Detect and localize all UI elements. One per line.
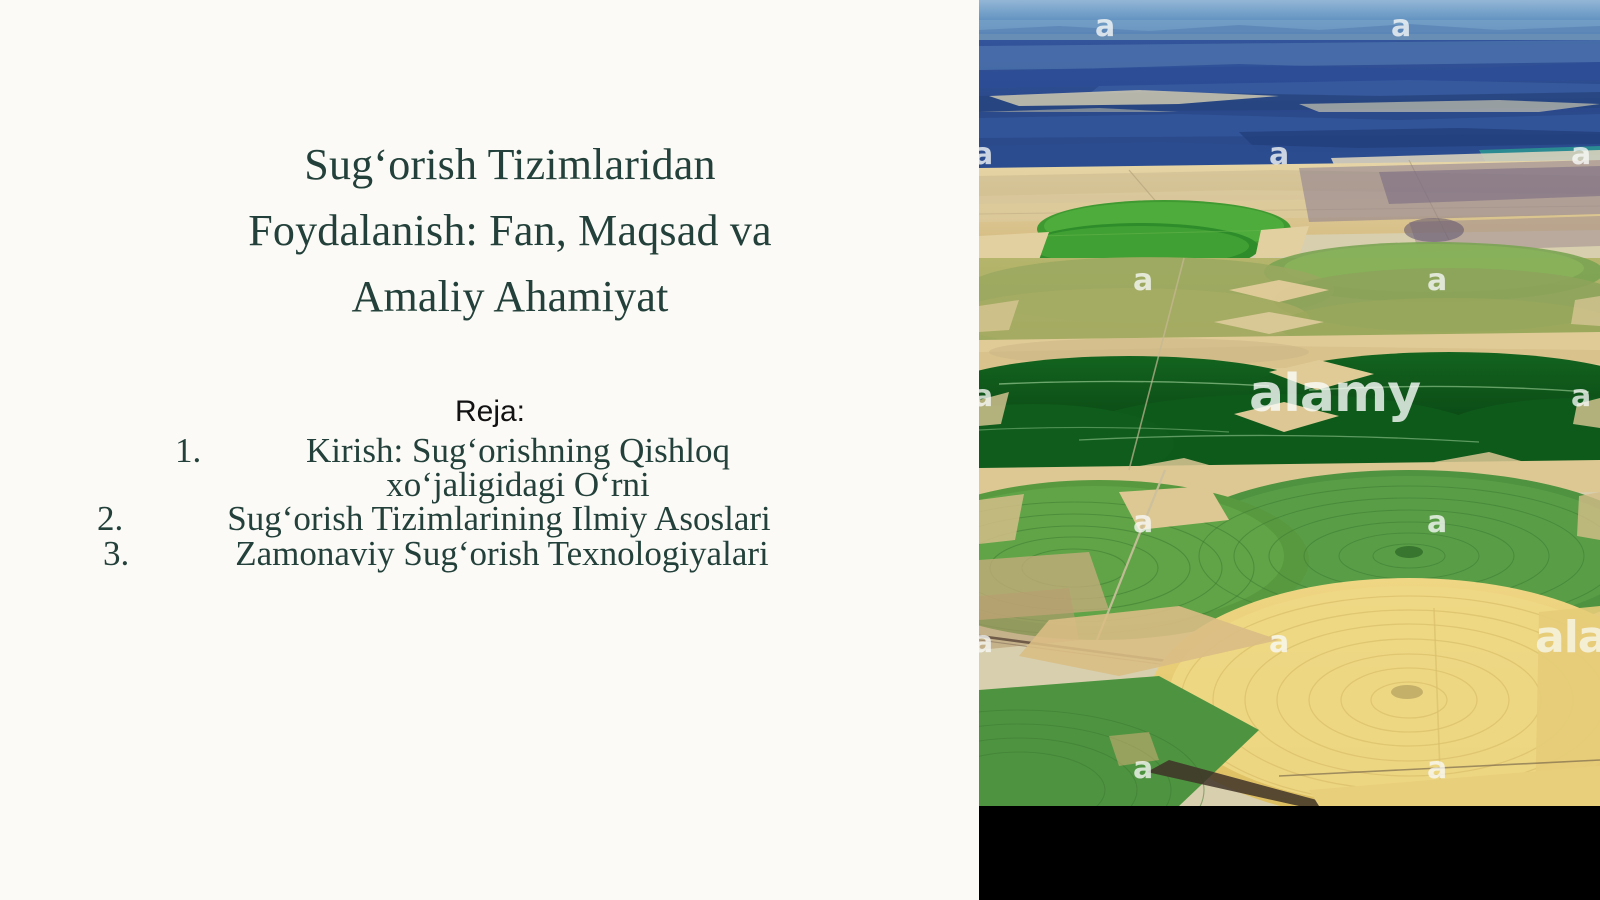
photo-pane: a a a a a a a a a a a a a a a alamy alam… — [979, 0, 1600, 900]
title-line-1: Sugʻorish Tizimlaridan — [120, 132, 900, 198]
list-item-number: 1. — [175, 431, 201, 471]
plan-label: Reja: — [40, 395, 940, 429]
plan-block: Reja: 1. Kirish: Sugʻorishning Qishloq x… — [40, 395, 940, 571]
title-line-2: Foydalanish: Fan, Maqsad va — [120, 198, 900, 264]
bottom-black-bar — [979, 806, 1600, 900]
aerial-irrigation-photo: a a a a a a a a a a a a a a a alamy alam… — [979, 0, 1600, 806]
list-item-label: Sugʻorish Tizimlarining Ilmiy Asoslari — [227, 499, 771, 538]
plan-list: 1. Kirish: Sugʻorishning Qishloq xoʻjali… — [40, 431, 940, 571]
list-item: 2. Sugʻorish Tizimlarining Ilmiy Asoslar… — [40, 501, 940, 536]
aerial-irrigation-illustration — [979, 0, 1600, 806]
presentation-slide: Sugʻorish Tizimlaridan Foydalanish: Fan,… — [0, 0, 1600, 900]
page-title: Sugʻorish Tizimlaridan Foydalanish: Fan,… — [120, 132, 900, 330]
title-line-3: Amaliy Ahamiyat — [120, 264, 900, 330]
list-item: 3. Zamonaviy Sugʻorish Texnologiyalari — [40, 536, 940, 571]
list-item-number: 2. — [97, 501, 123, 536]
list-item-number: 3. — [103, 536, 129, 571]
text-pane: Sugʻorish Tizimlaridan Foydalanish: Fan,… — [0, 0, 979, 900]
list-item: 1. Kirish: Sugʻorishning Qishloq xoʻjali… — [40, 431, 940, 505]
list-item-label: Zamonaviy Sugʻorish Texnologiyalari — [235, 534, 768, 573]
